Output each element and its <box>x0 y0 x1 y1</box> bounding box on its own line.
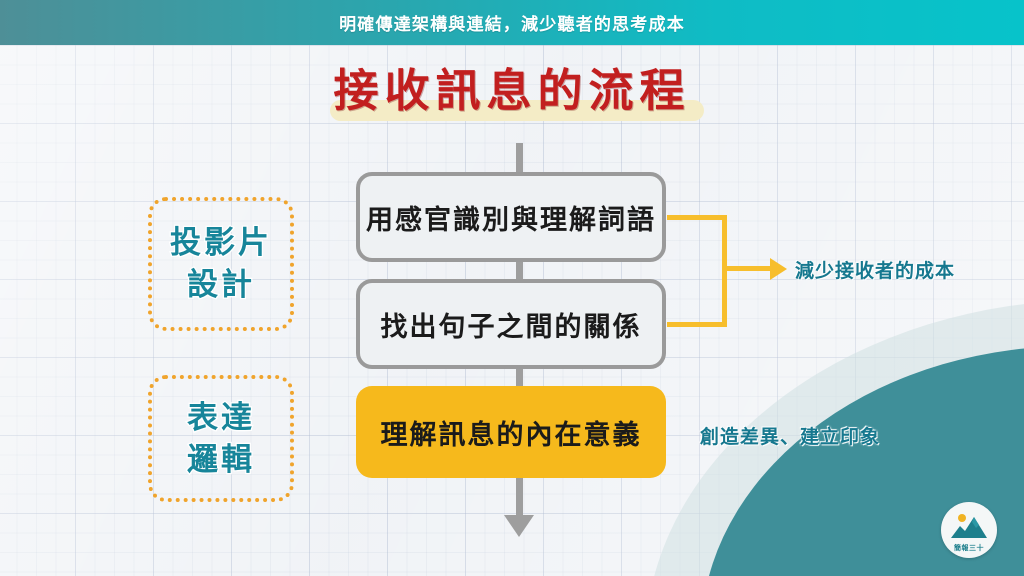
page-title: 接收訊息的流程 <box>0 62 1024 120</box>
bracket-arrow-stem <box>722 266 772 271</box>
note-create-difference: 創造差異、建立印象 <box>700 422 880 449</box>
brand-logo-text: 簡報三十 <box>954 543 984 553</box>
page-title-wrapper: 接收訊息的流程 <box>0 62 1024 124</box>
bracket-arrow-right-icon <box>770 258 787 280</box>
flow-step-label: 用感官識別與理解詞語 <box>366 198 656 237</box>
flow-step-label: 找出句子之間的關係 <box>381 305 642 344</box>
tag-label-line1: 表達 <box>187 398 255 438</box>
flow-connector-bottom <box>516 478 523 520</box>
brand-logo: 簡報三十 <box>941 502 997 558</box>
header-bar: 明確傳達架構與連結，減少聽者的思考成本 <box>0 0 1024 45</box>
slide-canvas: 明確傳達架構與連結，減少聽者的思考成本 接收訊息的流程 投影片 設計 表達 邏輯… <box>0 0 1024 576</box>
flow-arrow-down-icon <box>504 515 534 537</box>
note-reduce-receiver-cost: 減少接收者的成本 <box>795 256 955 283</box>
flow-step-2: 找出句子之間的關係 <box>356 279 666 369</box>
tag-label-line2: 設計 <box>187 265 255 305</box>
mountain-sun-icon <box>949 511 989 541</box>
bracket-segment-vertical <box>722 215 727 327</box>
flow-step-1: 用感官識別與理解詞語 <box>356 172 666 262</box>
tag-box-expression-logic: 表達 邏輯 <box>148 375 294 502</box>
bracket-segment-top <box>667 215 727 220</box>
bracket-segment-bottom <box>667 322 727 327</box>
flow-step-label: 理解訊息的內在意義 <box>381 413 642 452</box>
flow-connector-top <box>516 143 523 175</box>
tag-label-line2: 邏輯 <box>187 440 255 480</box>
flow-step-3-highlighted: 理解訊息的內在意義 <box>356 386 666 478</box>
header-title: 明確傳達架構與連結，減少聽者的思考成本 <box>339 10 685 35</box>
tag-box-slide-design: 投影片 設計 <box>148 197 294 331</box>
tag-label-line1: 投影片 <box>170 223 272 263</box>
